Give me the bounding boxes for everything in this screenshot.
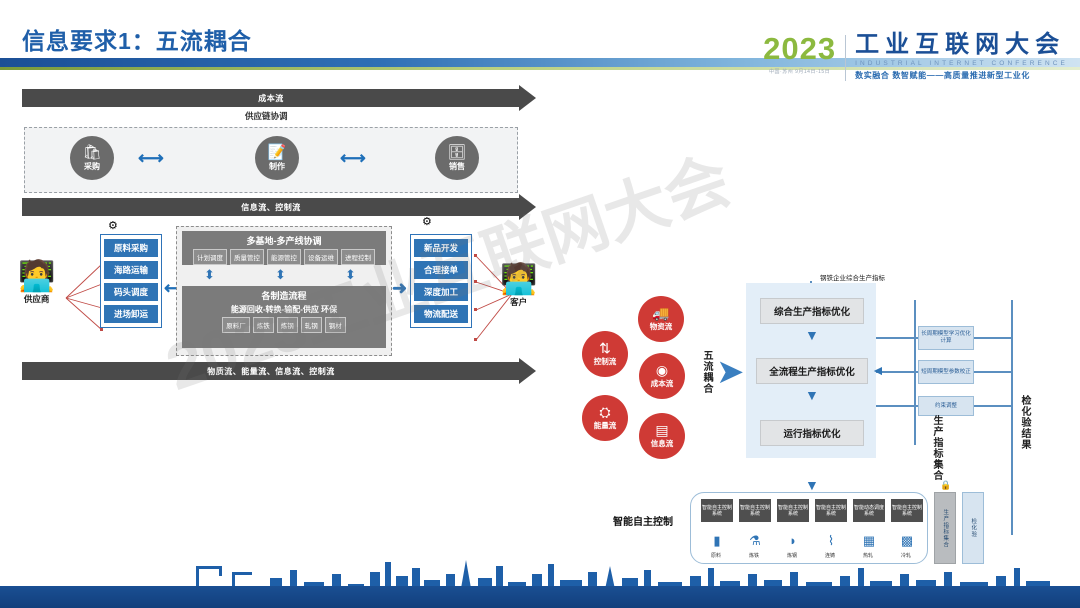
arrow-up-2: ⬍ [275, 268, 286, 281]
logo-divider [845, 35, 846, 81]
side-box-short-cycle[interactable]: 短周期模型参数校正 [918, 360, 974, 384]
raw-material-icon: ▮ [703, 534, 731, 547]
bottom-city-decoration [0, 556, 1080, 608]
water-band [0, 586, 1080, 608]
conference-logo: 2023 中国·苏州 9月14日-15日 工业互联网大会 INDUSTRIAL … [763, 33, 1068, 81]
supplier-actor: 🧑‍💻 供应商 [18, 262, 55, 305]
caster-icon: ⌇ [817, 534, 845, 547]
production-index-set-label: 生产指标集合 [929, 415, 944, 485]
logo-year: 2023 [763, 33, 836, 64]
optimization-stage-operation[interactable]: 运行指标优化 [760, 420, 864, 446]
cold-rolling-icon: ▩ [893, 534, 921, 547]
side-box-long-cycle[interactable]: 长周期模型学习优化计算 [918, 326, 974, 350]
inspection-result-label: 检化验结果 [1017, 395, 1032, 465]
logo-english-name: INDUSTRIAL INTERNET CONFERENCE [855, 60, 1068, 67]
supplier-person-icon: 🧑‍💻 [18, 262, 55, 292]
cost-flow-arrow-head [519, 85, 536, 111]
optimization-stage-whole-process[interactable]: 全流程生产指标优化 [756, 358, 868, 384]
inbound-gear-icon: ⚙ [108, 219, 118, 232]
customer-label: 客户 [510, 296, 527, 308]
coordination-chip[interactable]: 设备运维 [304, 249, 338, 265]
coins-icon: ◉ [656, 363, 668, 377]
optimization-stage-comprehensive[interactable]: 综合生产指标优化 [760, 298, 864, 324]
list-icon: ▤ [655, 423, 668, 437]
five-flow-cost[interactable]: ◉ 成本流 [639, 353, 685, 399]
document-edit-icon: 📝 [268, 145, 287, 160]
outbound-item-deep-processing[interactable]: 深度加工 [414, 283, 468, 301]
arrow-procurement-to-production: ⟷ [138, 148, 162, 169]
five-flow-label: 信息流 [651, 438, 674, 449]
feedback-connector-1 [974, 337, 1012, 339]
manufacturing-chip[interactable]: 钢材 [325, 317, 346, 333]
supply-chain-node-sales[interactable]: 🗄 销售 [435, 136, 479, 180]
multi-base-coordination-title: 多基地-多产线协调 [182, 231, 386, 249]
coordination-chip-row: 计划调度 质量管控 能源管控 设备运维 进程控制 [182, 249, 386, 268]
optimization-input-label: 钢铁企业综合生产指标 [820, 272, 885, 282]
inbound-item-raw-material-purchase[interactable]: 原料采购 [104, 239, 158, 257]
customer-actor: 🧑‍💻 客户 [500, 265, 537, 308]
material-energy-flow-arrow-head [519, 358, 536, 384]
inbound-item-port-scheduling[interactable]: 码头调度 [104, 283, 158, 301]
arrow-five-flow-to-optimization: ➤ [716, 355, 745, 389]
five-flow-coupling-label: 五流耦合 [699, 350, 714, 402]
cost-flow-arrow: 成本流 [22, 89, 520, 107]
lock-icon: 🔒 [940, 480, 951, 491]
five-flow-control[interactable]: ⇅ 控制流 [582, 331, 628, 377]
outbound-item-logistics-delivery[interactable]: 物流配送 [414, 305, 468, 323]
material-energy-flow-arrow-label: 物质流、能量流、信息流、控制流 [207, 366, 335, 377]
side-bus-vertical-line [914, 300, 916, 445]
coordination-chip[interactable]: 进程控制 [341, 249, 375, 265]
inbound-stack: 原料采购 海路运输 码头调度 进场卸运 [100, 234, 162, 328]
info-control-flow-arrow-head [519, 194, 536, 220]
supplier-label: 供应商 [24, 293, 50, 305]
optimization-arrow-1: ▼ [805, 328, 819, 342]
side-box-constraint[interactable]: 约束调整 [918, 396, 974, 416]
five-flow-information[interactable]: ▤ 信息流 [639, 413, 685, 459]
manufacturing-chip-row: 原料厂 炼铁 炼钢 轧钢 钢材 [182, 317, 386, 336]
five-flow-label: 控制流 [594, 356, 617, 367]
side-arrow-into-flow: ▼ [872, 364, 886, 378]
slide-canvas: 信息要求1：五流耦合 2023 中国·苏州 9月14日-15日 工业互联网大会 … [0, 0, 1080, 608]
feedback-connector-2 [974, 371, 1012, 373]
manufacturing-chip[interactable]: 炼钢 [277, 317, 298, 333]
supply-chain-node-label: 采购 [84, 161, 100, 172]
feedback-bus-vertical-line [1011, 300, 1013, 535]
tag-production-index-set[interactable]: 生产指标集合 [934, 492, 956, 564]
manufacturing-subtitle: 能源回收-转换-输配-供应 环保 [182, 304, 386, 317]
outbound-item-new-product-dev[interactable]: 新品开发 [414, 239, 468, 257]
manufacturing-process-panel: 各制造流程 能源回收-转换-输配-供应 环保 原料厂 炼铁 炼钢 轧钢 钢材 [182, 286, 386, 348]
coordination-chip[interactable]: 计划调度 [193, 249, 227, 265]
network-icon: ⛭ [599, 405, 610, 419]
autonomous-control-label: 智能自主控制 [613, 513, 673, 528]
coordination-chip[interactable]: 能源管控 [267, 249, 301, 265]
logo-tagline: 数实融合 数智赋能——高质量推进新型工业化 [855, 70, 1068, 81]
feedback-connector-3 [974, 405, 1012, 407]
converter-icon: ◗ [779, 534, 807, 547]
coordination-chip[interactable]: 质量管控 [230, 249, 264, 265]
manufacturing-chip[interactable]: 炼铁 [253, 317, 274, 333]
five-flow-label: 成本流 [651, 378, 674, 389]
autonomous-unit[interactable]: 智能自主控制系统 [891, 499, 923, 522]
manufacturing-chip[interactable]: 轧钢 [301, 317, 322, 333]
manufacturing-chip[interactable]: 原料厂 [222, 317, 250, 333]
arrow-up-3: ⬍ [345, 268, 356, 281]
five-flow-material[interactable]: 🚚 物资流 [638, 296, 684, 342]
cost-flow-arrow-label: 成本流 [258, 93, 284, 104]
purchase-bag-icon: 🛍 [82, 145, 101, 160]
tag-inspection[interactable]: 检化验 [962, 492, 984, 564]
manufacturing-title: 各制造流程 [182, 286, 386, 304]
logo-year-block: 2023 中国·苏州 9月14日-15日 [763, 33, 836, 75]
outbound-gear-icon: ⚙ [422, 215, 432, 228]
material-energy-flow-arrow: 物质流、能量流、信息流、控制流 [22, 362, 520, 380]
supply-chain-node-procurement[interactable]: 🛍 采购 [70, 136, 114, 180]
five-flow-label: 物资流 [650, 321, 673, 332]
sliders-icon: ⇅ [599, 341, 611, 355]
outbound-stack: 新品开发 合理接单 深度加工 物流配送 [410, 234, 472, 328]
supply-chain-coordination-label: 供应链协调 [245, 110, 288, 122]
arrow-to-autonomous-control: ▼ [805, 478, 819, 492]
autonomous-unit[interactable]: 智能自主控制系统 [815, 499, 847, 522]
arrow-up-1: ⬍ [204, 268, 215, 281]
logo-year-subtitle: 中国·苏州 9月14日-15日 [769, 68, 830, 75]
info-control-flow-arrow: 信息流、控制流 [22, 198, 520, 216]
side-connector-3 [876, 405, 918, 407]
autonomous-unit[interactable]: 智能自主控制系统 [777, 499, 809, 522]
page-title: 信息要求1：五流耦合 [22, 22, 252, 56]
multi-base-coordination-panel: 多基地-多产线协调 计划调度 质量管控 能源管控 设备运维 进程控制 [182, 231, 386, 265]
info-control-flow-arrow-label: 信息流、控制流 [241, 202, 301, 213]
supply-chain-node-label: 销售 [449, 161, 465, 172]
five-flow-label: 能量流 [594, 420, 617, 431]
five-flow-energy[interactable]: ⛭ 能量流 [582, 395, 628, 441]
inbound-item-yard-unloading[interactable]: 进场卸运 [104, 305, 158, 323]
autonomous-unit[interactable]: 智能自主控制系统 [701, 499, 733, 522]
outbound-item-order-acceptance[interactable]: 合理接单 [414, 261, 468, 279]
side-connector-1 [876, 337, 918, 339]
arrow-production-to-sales: ⟷ [340, 148, 364, 169]
supply-chain-node-production[interactable]: 📝 制作 [255, 136, 299, 180]
customer-person-icon: 🧑‍💻 [500, 265, 537, 295]
optimization-arrow-2: ▼ [805, 388, 819, 402]
autonomous-unit[interactable]: 智能自主控制系统 [739, 499, 771, 522]
supply-chain-node-label: 制作 [269, 161, 285, 172]
hot-rolling-icon: ▦ [855, 534, 883, 547]
inbound-item-sea-transport[interactable]: 海路运输 [104, 261, 158, 279]
sales-shelf-icon: 🗄 [447, 145, 466, 160]
arrow-center-to-outbound: ➜ [392, 278, 405, 299]
logo-chinese-name: 工业互联网大会 [855, 33, 1068, 57]
truck-icon: 🚚 [652, 306, 669, 320]
blast-furnace-icon: ⚗ [741, 534, 769, 547]
logo-text-block: 工业互联网大会 INDUSTRIAL INTERNET CONFERENCE 数… [855, 33, 1068, 81]
autonomous-unit[interactable]: 智能动态调度系统 [853, 499, 885, 522]
